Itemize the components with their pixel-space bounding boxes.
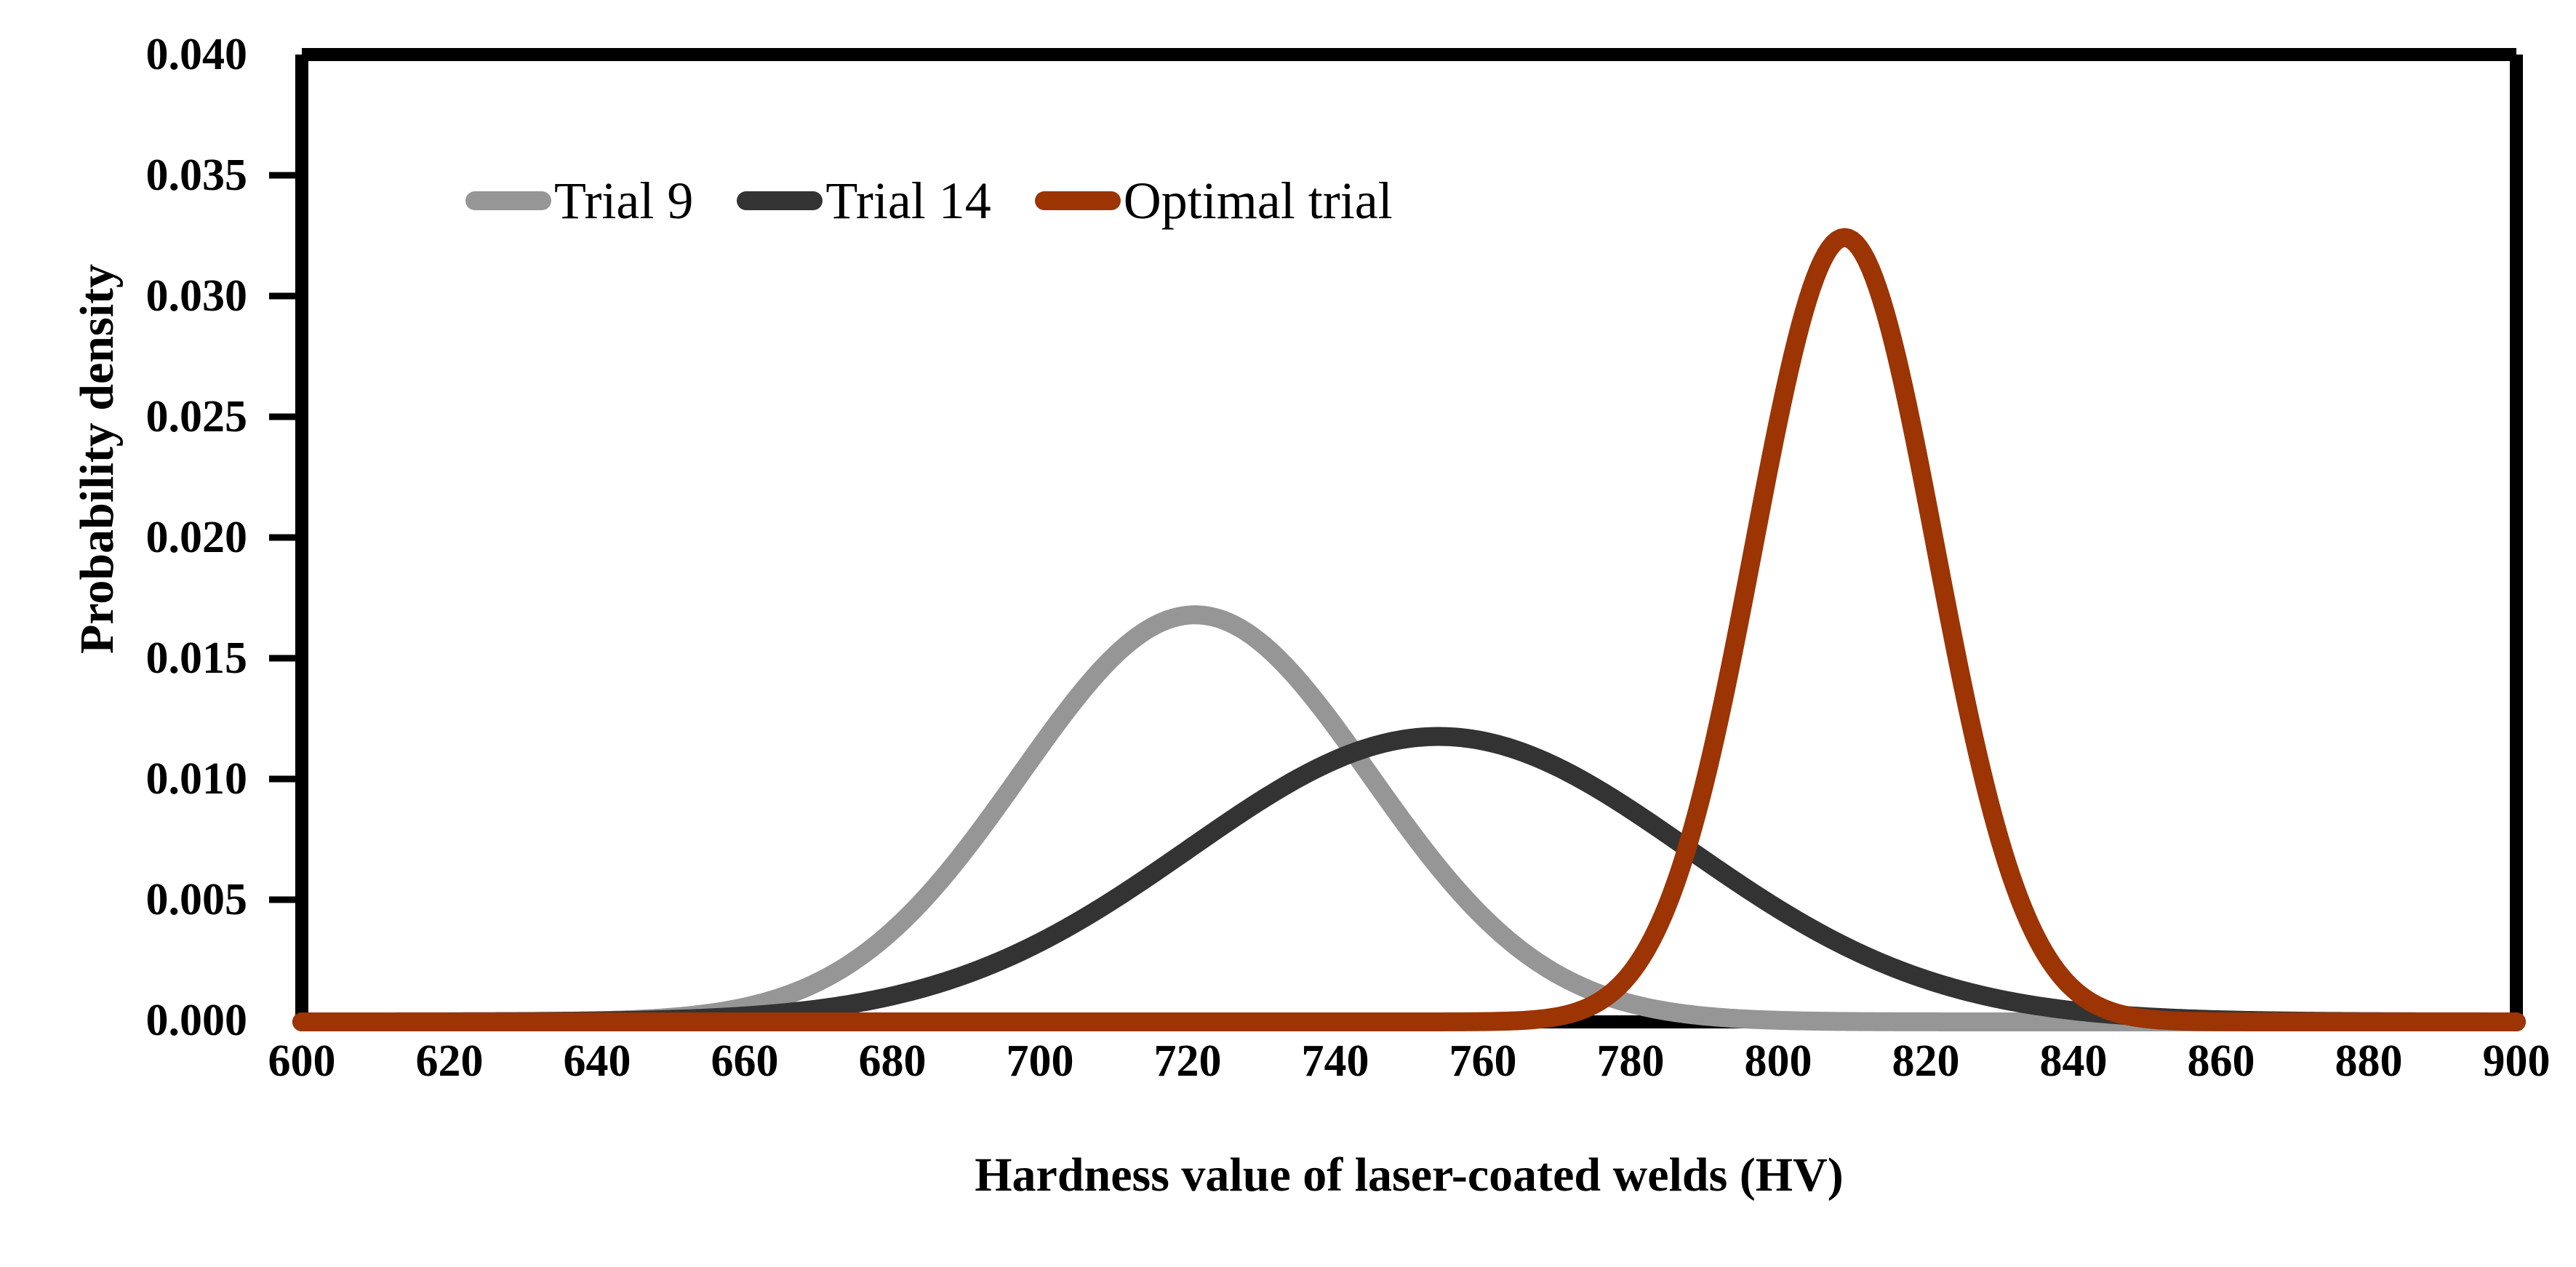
legend-item-optimal[interactable]: Optimal trial — [1035, 175, 1393, 227]
legend-item-trial9[interactable]: Trial 9 — [465, 175, 693, 227]
curve-trial-9 — [302, 615, 2516, 1022]
legend-item-trial14[interactable]: Trial 14 — [737, 175, 991, 227]
legend-label-optimal: Optimal trial — [1124, 175, 1393, 227]
legend: Trial 9 Trial 14 Optimal trial — [465, 175, 1436, 227]
legend-label-trial14: Trial 14 — [825, 175, 991, 227]
curve-trial-14 — [302, 737, 2516, 1022]
legend-swatch-optimal — [1035, 191, 1121, 210]
series-curves — [302, 238, 2516, 1022]
legend-swatch-trial14 — [737, 191, 823, 210]
legend-label-trial9: Trial 9 — [554, 175, 693, 227]
curve-optimal-trial — [302, 238, 2516, 1022]
chart-figure: Probability density 0.040 0.035 0.030 0.… — [0, 0, 2576, 1267]
legend-swatch-trial9 — [465, 191, 551, 210]
